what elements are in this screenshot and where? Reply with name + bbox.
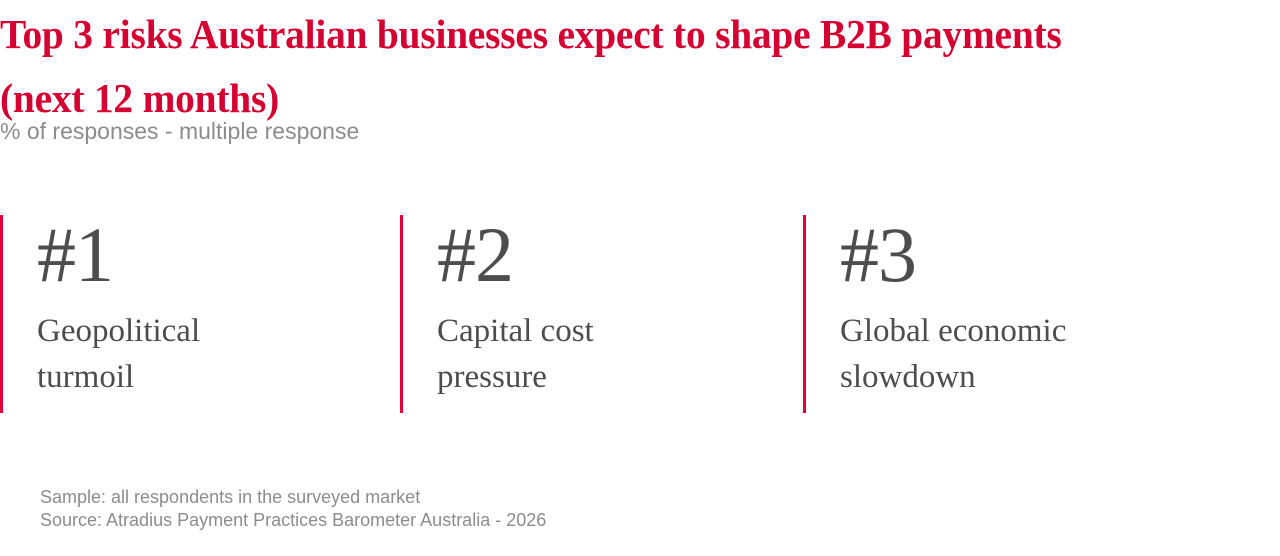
header: Top 3 risks Australian businesses expect… [0,0,1240,130]
rank-number-1: #1 [37,215,200,301]
rank-label-line-1: Capital cost [437,313,594,349]
rank-number-2: #2 [437,215,594,301]
rank-block-1: #1 Geopolitical turmoil [0,215,380,415]
footnotes: Sample: all respondents in the surveyed … [40,486,546,532]
rank-number-3: #3 [840,215,1066,301]
rank-body: #1 Geopolitical turmoil [37,215,200,400]
rank-label-line-1: Global economic [840,313,1066,349]
rank-accent-bar [400,215,403,413]
footnote-source: Source: Atradius Payment Practices Barom… [40,509,546,532]
rank-accent-bar [803,215,806,413]
rank-block-3: #3 Global economic slowdown [803,215,1243,415]
rank-list: #1 Geopolitical turmoil #2 Capital cost … [0,215,1280,415]
rank-label-line-1: Geopolitical [37,313,200,349]
rank-label-line-2: turmoil [37,354,200,400]
rank-label-line-2: slowdown [840,354,1066,400]
rank-accent-bar [0,215,3,413]
page-title: Top 3 risks Australian businesses expect… [0,0,1085,130]
footnote-sample: Sample: all respondents in the surveyed … [40,486,546,509]
rank-label-2: Capital cost pressure [437,308,594,400]
rank-label-3: Global economic slowdown [840,308,1066,400]
rank-block-2: #2 Capital cost pressure [400,215,783,415]
rank-body: #2 Capital cost pressure [437,215,594,400]
rank-label-1: Geopolitical turmoil [37,308,200,400]
chart-subtitle: % of responses - multiple response [0,117,359,145]
rank-label-line-2: pressure [437,354,594,400]
rank-body: #3 Global economic slowdown [840,215,1066,400]
